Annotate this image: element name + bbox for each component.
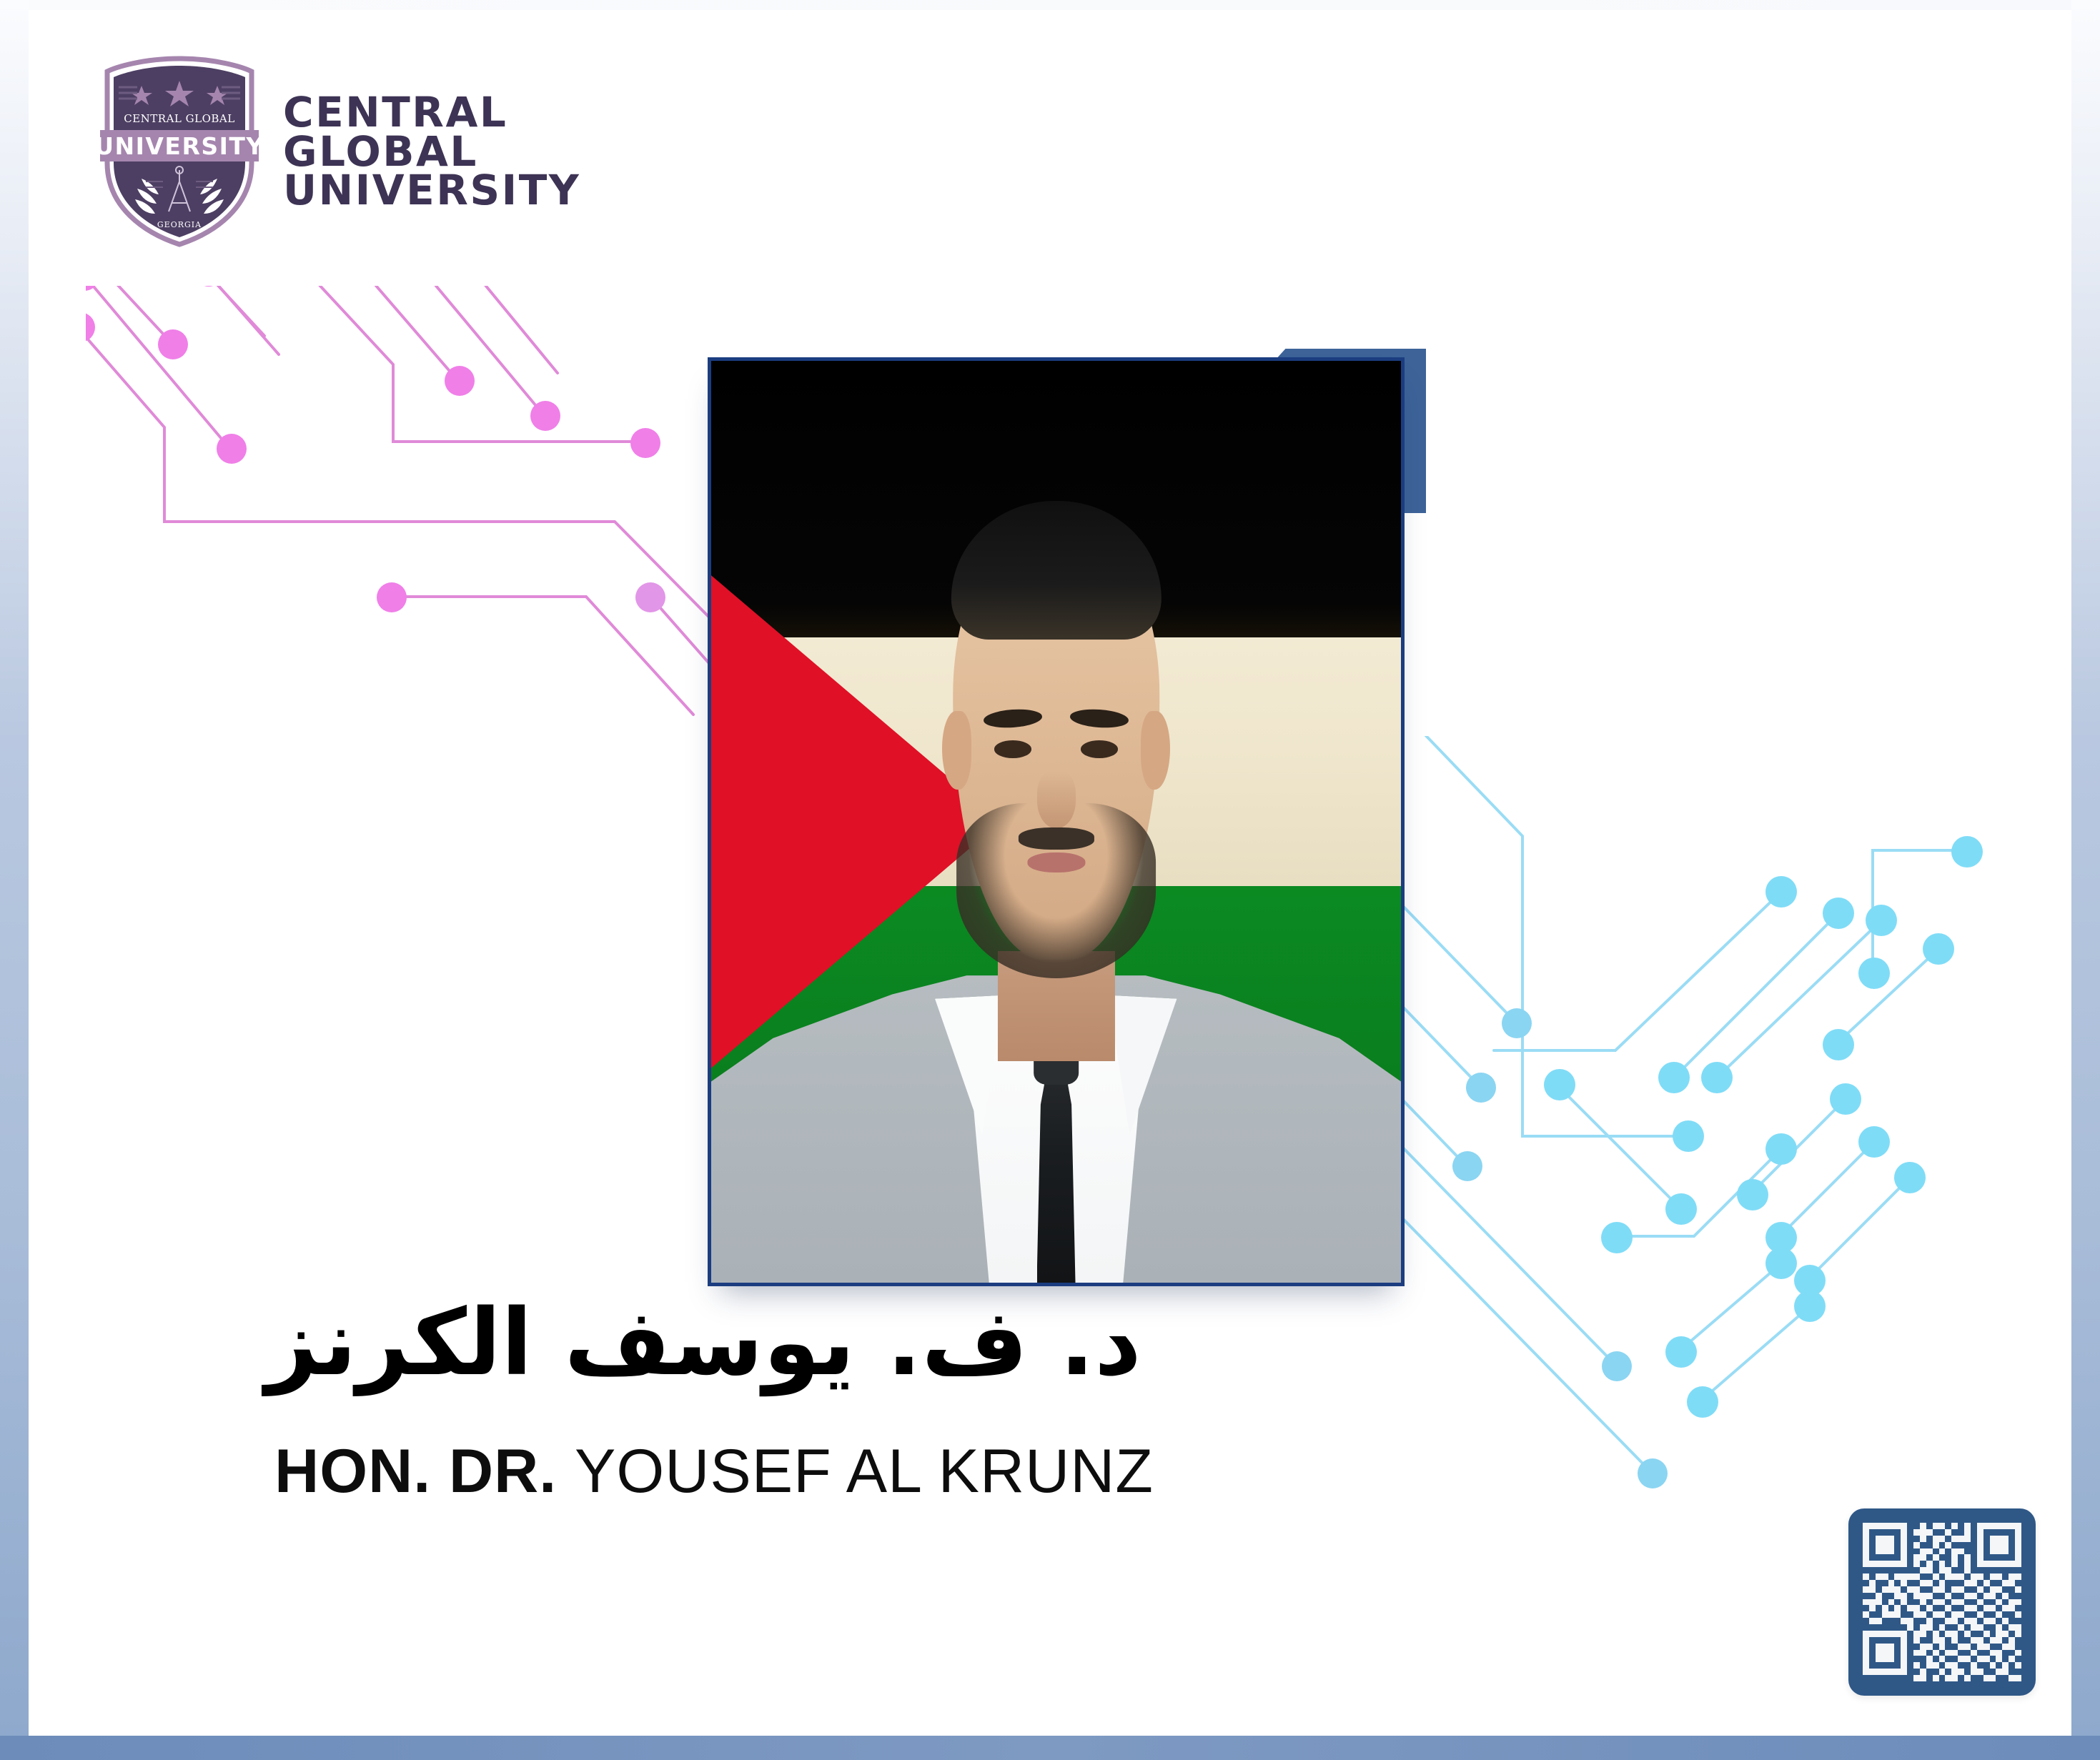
name-arabic: د. ف. يوسف الكرنز	[0, 1293, 1753, 1394]
nose	[1036, 771, 1075, 828]
hair	[951, 501, 1161, 640]
certificate-card: CENTRAL GLOBAL UNIVERSITY	[0, 0, 2100, 1760]
qr-code-grid	[1863, 1523, 2021, 1681]
moustache	[1018, 827, 1094, 850]
frame-right-edge	[2071, 0, 2100, 1760]
name-english: HON. DR. YOUSEF AL KRUNZ	[0, 1436, 1764, 1507]
name-english-value: YOUSEF AL KRUNZ	[575, 1437, 1154, 1506]
ear-left	[942, 711, 971, 790]
wordmark-line-3: UNIVERSITY	[283, 171, 580, 210]
name-english-title: HON. DR.	[274, 1437, 557, 1506]
ear-right	[1141, 711, 1170, 790]
svg-text:GEORGIA: GEORGIA	[157, 220, 202, 229]
portrait-photo	[708, 357, 1405, 1286]
university-shield-icon: CENTRAL GLOBAL UNIVERSITY	[100, 56, 259, 247]
lips	[1027, 852, 1085, 872]
wordmark-line-2: GLOBAL	[283, 132, 580, 171]
brand-logo: CENTRAL GLOBAL UNIVERSITY	[100, 56, 580, 247]
frame-bottom-edge	[0, 1736, 2100, 1760]
svg-text:CENTRAL GLOBAL: CENTRAL GLOBAL	[124, 112, 234, 125]
eye-right	[1081, 740, 1118, 758]
portrait-block	[708, 357, 1405, 1286]
svg-text:UNIVERSITY: UNIVERSITY	[100, 132, 259, 160]
brand-wordmark: CENTRAL GLOBAL UNIVERSITY	[283, 93, 580, 210]
frame-top-edge	[0, 0, 2100, 10]
necktie	[1036, 1070, 1075, 1283]
qr-code[interactable]	[1848, 1508, 2036, 1696]
eye-left	[994, 740, 1031, 758]
wordmark-line-1: CENTRAL	[283, 93, 580, 132]
person-figure	[711, 361, 1401, 1283]
